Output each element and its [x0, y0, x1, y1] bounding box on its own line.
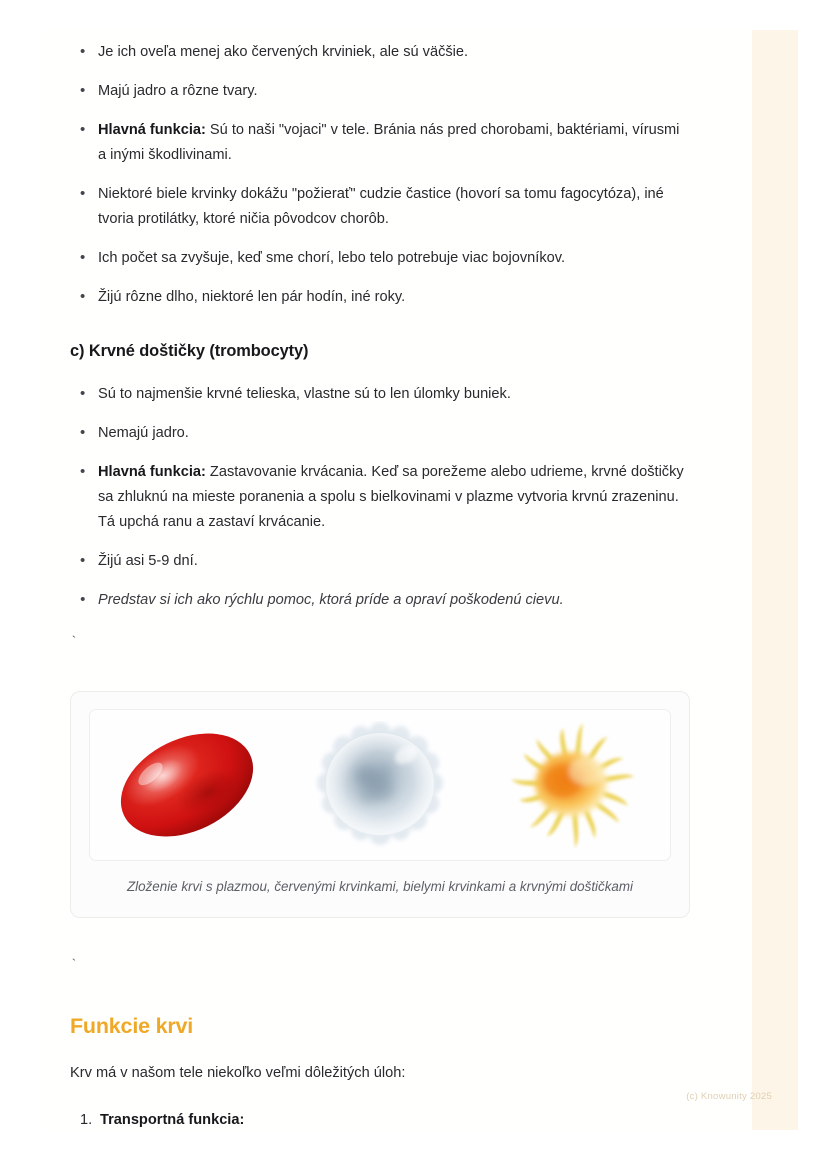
list-item: Je ich oveľa menej ako červených krvinie… [96, 40, 690, 65]
white-blood-cell-icon [312, 721, 448, 849]
platelet-icon [503, 719, 643, 851]
bullet-text: Žijú rôzne dlho, niektoré len pár hodín,… [98, 289, 405, 305]
right-margin-strip [752, 30, 798, 1130]
platelets-heading: c) Krvné doštičky (trombocyty) [70, 342, 690, 361]
document-sheet: Je ich oveľa menej ako červených krvinie… [42, 30, 798, 1130]
list-item: Hlavná funkcia: Sú to naši "vojaci" v te… [96, 118, 690, 168]
list-item: Niektoré biele krvinky dokážu "požierať"… [96, 182, 690, 232]
figure-caption: Zloženie krvi s plazmou, červenými krvin… [89, 877, 671, 897]
bullet-lead: Hlavná funkcia: [98, 122, 206, 138]
copyright-watermark: (c) Knowunity 2025 [686, 1091, 772, 1102]
list-item: Sú to najmenšie krvné telieska, vlastne … [96, 382, 690, 407]
bullet-text: Žijú asi 5-9 dní. [98, 553, 198, 569]
bullet-text: Nemajú jadro. [98, 425, 189, 441]
blood-composition-figure-card: Zloženie krvi s plazmou, červenými krvin… [70, 691, 690, 918]
platelet-slot [487, 715, 659, 855]
functions-section-heading: Funkcie krvi [70, 1014, 690, 1039]
stray-backtick-second: ` [70, 958, 690, 972]
list-item: Hlavná funkcia: Zastavovanie krvácania. … [96, 460, 690, 535]
bullet-text: Je ich oveľa menej ako červených krvinie… [98, 44, 468, 60]
functions-intro-text: Krv má v našom tele niekoľko veľmi dôlež… [70, 1061, 690, 1086]
list-item: Žijú rôzne dlho, niektoré len pár hodín,… [96, 285, 690, 310]
bullet-text: Ich počet sa zvyšuje, keď sme chorí, leb… [98, 250, 565, 266]
document-content: Je ich oveľa menej ako červených krvinie… [70, 30, 690, 1130]
figure-image-frame [89, 709, 671, 861]
function-label: Transportná funkcia: [100, 1112, 244, 1128]
bullet-lead: Hlavná funkcia: [98, 464, 206, 480]
white-blood-cell-slot [294, 715, 466, 855]
list-item: Predstav si ich ako rýchlu pomoc, ktorá … [96, 588, 690, 613]
list-item: Žijú asi 5-9 dní. [96, 549, 690, 574]
page-root: Je ich oveľa menej ako červených krvinie… [0, 0, 828, 1171]
functions-ordered-list: Transportná funkcia: Prenáša kyslík z pľ… [70, 1108, 690, 1130]
bullet-text: Sú to najmenšie krvné telieska, vlastne … [98, 386, 511, 402]
list-item: Transportná funkcia: Prenáša kyslík z pľ… [100, 1108, 690, 1130]
list-item: Nemajú jadro. [96, 421, 690, 446]
white-blood-cells-list: Je ich oveľa menej ako červených krvinie… [70, 40, 690, 310]
bullet-text: Niektoré biele krvinky dokážu "požierať"… [98, 186, 664, 227]
list-item: Majú jadro a rôzne tvary. [96, 79, 690, 104]
stray-backtick-first: ` [70, 635, 690, 649]
bullet-text: Predstav si ich ako rýchlu pomoc, ktorá … [98, 592, 564, 608]
list-item: Ich počet sa zvyšuje, keď sme chorí, leb… [96, 246, 690, 271]
red-blood-cell-slot [101, 715, 273, 855]
bullet-text: Majú jadro a rôzne tvary. [98, 83, 258, 99]
platelets-list: Sú to najmenšie krvné telieska, vlastne … [70, 382, 690, 613]
red-blood-cell-icon [107, 721, 267, 849]
